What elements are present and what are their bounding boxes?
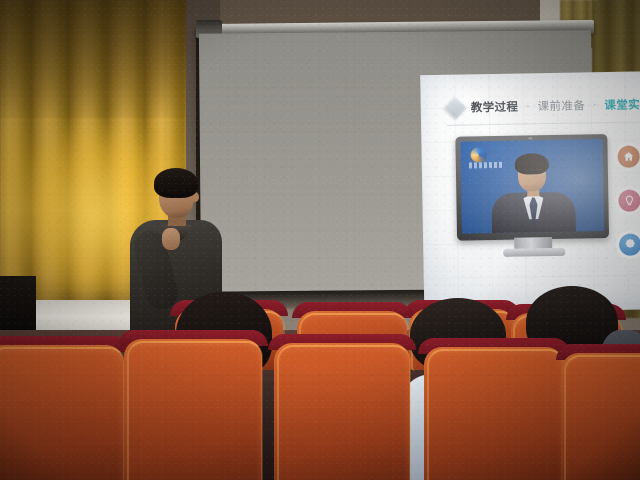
- presentation-room-photo: 教学过程 · 课前准备 · 课堂实施 · 课后提升: [0, 0, 640, 480]
- seat-front-row: [556, 344, 640, 480]
- slide-projection-glare: [420, 69, 640, 313]
- seat-front-row: [0, 336, 130, 480]
- seat-piping: [127, 341, 263, 480]
- seat-piping: [277, 345, 411, 480]
- seat-piping: [427, 349, 565, 480]
- seat-front-row: [268, 334, 416, 480]
- curtain-top-shadow: [0, 0, 196, 118]
- presenter-raised-hand: [162, 228, 180, 250]
- seat-piping: [0, 347, 125, 480]
- seat-front-row: [418, 338, 570, 480]
- seat-piping: [564, 355, 640, 480]
- presentation-slide: 教学过程 · 课前准备 · 课堂实施 · 课后提升: [420, 69, 640, 313]
- presenter-hair: [154, 168, 198, 198]
- projection-screen-frame: 教学过程 · 课前准备 · 课堂实施 · 课后提升: [199, 30, 593, 291]
- seat-front-row: [118, 330, 268, 480]
